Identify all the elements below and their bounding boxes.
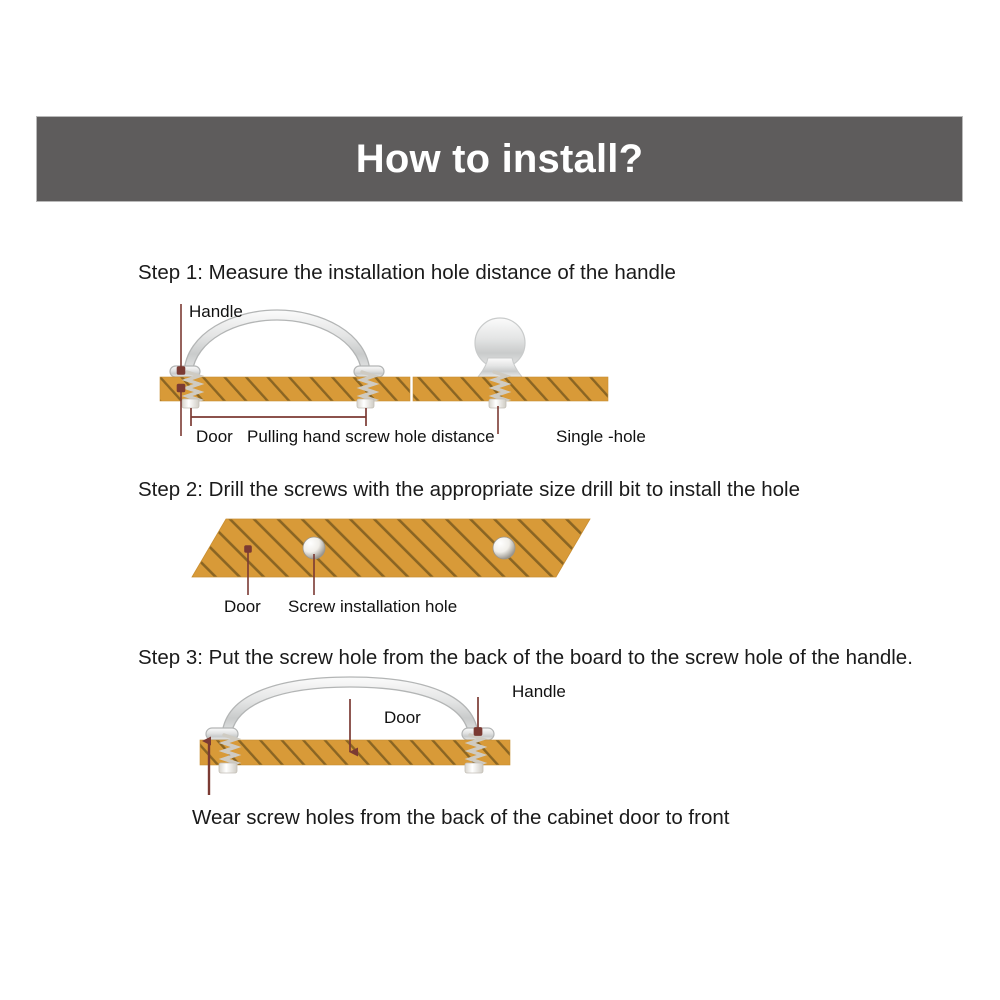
leader-handle-step3: [475, 697, 482, 735]
step-3-heading: Step 3: Put the screw hole from the back…: [138, 646, 913, 671]
step-2-heading: Step 2: Drill the screws with the approp…: [138, 478, 800, 503]
step-3-caption: Wear screw holes from the back of the ca…: [192, 806, 729, 830]
page-title: How to install?: [356, 139, 643, 179]
leader-handle: [178, 304, 185, 374]
label-handle-step1: Handle: [189, 302, 243, 322]
door-board-left: [160, 377, 410, 401]
drill-hole-2: [493, 537, 515, 559]
header-banner: How to install?: [36, 116, 963, 202]
label-handle-step3: Handle: [512, 682, 566, 702]
label-dimension-step1: Pulling hand screw hole distance: [247, 427, 495, 447]
label-screw-hole-step2: Screw installation hole: [288, 597, 457, 617]
dimension-line: [191, 408, 366, 426]
label-door-step2: Door: [224, 597, 261, 617]
label-door-step3: Door: [384, 708, 421, 728]
step-1-heading: Step 1: Measure the installation hole di…: [138, 261, 676, 286]
knob-single-hole: [475, 318, 525, 377]
label-door-step1: Door: [196, 427, 233, 447]
step-2-figure: [190, 505, 620, 610]
label-single-hole-step1: Single -hole: [556, 427, 646, 447]
door-board-step3: [200, 740, 510, 765]
door-board-right: [413, 377, 608, 401]
instruction-page: How to install? Step 1: Measure the inst…: [0, 0, 1000, 1000]
leader-door: [178, 385, 185, 437]
